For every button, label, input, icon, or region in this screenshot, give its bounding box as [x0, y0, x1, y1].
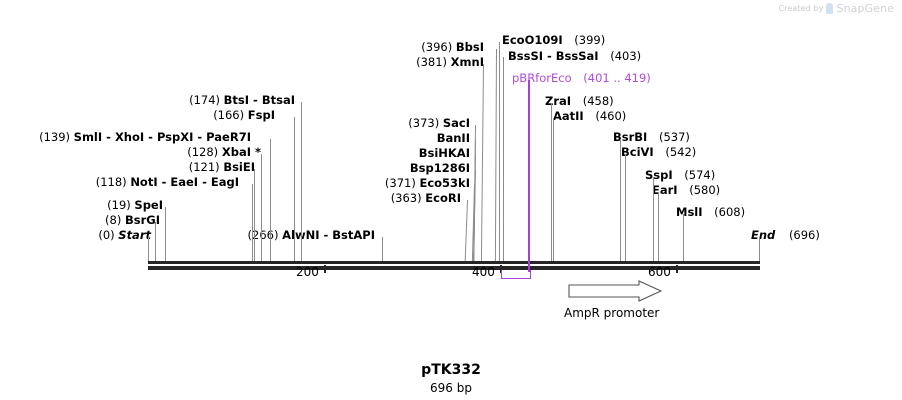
leader-line-xbai	[261, 154, 262, 261]
leader-line-bbsi	[495, 49, 497, 261]
site-label-end[interactable]: End (696)	[751, 230, 820, 242]
plasmid-map-canvas: Created by SnapGene (174) BtsI - BtsaI (…	[0, 0, 902, 400]
site-label-bsssi[interactable]: BssSI - BssSaI (403)	[508, 51, 641, 63]
leader-line-msli	[683, 214, 684, 261]
site-label-eco53ki[interactable]: (371) Eco53kI	[385, 178, 470, 190]
site-label-msli[interactable]: MslI (608)	[676, 207, 745, 219]
leader-line-bsssi	[503, 57, 504, 261]
leader-line-spei	[165, 207, 166, 261]
site-label-xmni[interactable]: (381) XmnI	[416, 57, 484, 69]
site-label-alwni[interactable]: (266) AlwNI - BstAPI	[248, 230, 375, 242]
site-label-saci[interactable]: (373) SacI	[408, 118, 470, 130]
leader-line-bsrbi	[620, 139, 621, 261]
leader-line-end	[759, 237, 760, 261]
watermark-brand: SnapGene	[836, 2, 894, 15]
ruler-tick-600	[676, 265, 678, 273]
leader-line-eari	[658, 192, 659, 261]
site-label-bsiei[interactable]: (121) BsiEI	[189, 162, 255, 174]
site-label-ecoo109i[interactable]: EcoO109I (399)	[502, 35, 605, 47]
leader-line-sspi	[653, 177, 654, 261]
feature-connector-pbrforeco	[528, 80, 530, 272]
site-label-zrai[interactable]: ZraI (458)	[545, 96, 614, 108]
leader-line-fspi	[294, 117, 295, 261]
site-label-btsi[interactable]: (174) BtsI - BtsaI	[189, 95, 295, 107]
leader-line-zrai	[551, 103, 552, 261]
leader-line-ecori	[465, 200, 468, 261]
snapgene-watermark: Created by SnapGene	[778, 2, 894, 15]
leader-line-bsiei	[254, 169, 255, 261]
site-label-bsrbi[interactable]: BsrBI (537)	[613, 132, 690, 144]
plasmid-title: pTK332	[0, 362, 902, 378]
ruler-tick-200	[324, 265, 326, 273]
feature-label-pbrforeco[interactable]: pBRforEco (401 .. 419)	[512, 73, 651, 85]
leader-line-xmni	[481, 64, 484, 261]
leader-line-bsrgi	[155, 222, 156, 261]
ampr-promoter-arrow[interactable]	[568, 280, 662, 302]
snapgene-logo-icon	[826, 3, 833, 14]
feature-bracket-pbrforeco[interactable]	[501, 270, 531, 279]
leader-line-smli	[270, 139, 271, 261]
site-label-xbai[interactable]: (128) XbaI *	[187, 147, 261, 159]
ruler-label-600: 600	[648, 266, 671, 278]
site-label-aatii[interactable]: AatII (460)	[553, 111, 626, 123]
site-label-bsp1286i[interactable]: Bsp1286I	[410, 163, 470, 175]
site-label-bsrgi[interactable]: (8) BsrGI	[105, 215, 160, 227]
leader-line-saci	[473, 125, 476, 261]
arrow-right-icon	[568, 280, 662, 302]
site-label-eari[interactable]: EarI (580)	[652, 185, 720, 197]
leader-line-start	[148, 237, 149, 261]
watermark-prefix: Created by	[778, 4, 823, 13]
plasmid-length: 696 bp	[0, 381, 902, 395]
ruler-label-200: 200	[296, 266, 319, 278]
site-label-ecori[interactable]: (363) EcoRI	[391, 193, 461, 205]
leader-line-ecoo109i	[499, 42, 500, 261]
site-label-banii[interactable]: BanII	[437, 133, 470, 145]
leader-line-noti	[252, 184, 253, 261]
site-label-smli[interactable]: (139) SmlI - XhoI - PspXI - PaeR7I	[39, 132, 251, 144]
site-label-sspi[interactable]: SspI (574)	[645, 170, 715, 182]
site-label-noti[interactable]: (118) NotI - EaeI - EagI	[96, 177, 239, 189]
leader-line-alwni	[382, 237, 383, 261]
sequence-backbone-top	[148, 261, 760, 264]
site-label-bsihkai[interactable]: BsiHKAI	[419, 148, 470, 160]
site-label-bbsi[interactable]: (396) BbsI	[421, 42, 484, 54]
leader-line-btsi	[301, 102, 302, 261]
leader-line-bcivi	[625, 154, 626, 261]
ruler-label-400: 400	[472, 266, 495, 278]
ampr-promoter-label: AmpR promoter	[564, 306, 659, 320]
site-label-start[interactable]: (0) Start	[98, 230, 151, 242]
site-label-fspi[interactable]: (166) FspI	[213, 110, 275, 122]
leader-line-aatii	[553, 118, 554, 261]
site-label-spei[interactable]: (19) SpeI	[107, 200, 163, 212]
site-label-bcivi[interactable]: BciVI (542)	[621, 147, 696, 159]
